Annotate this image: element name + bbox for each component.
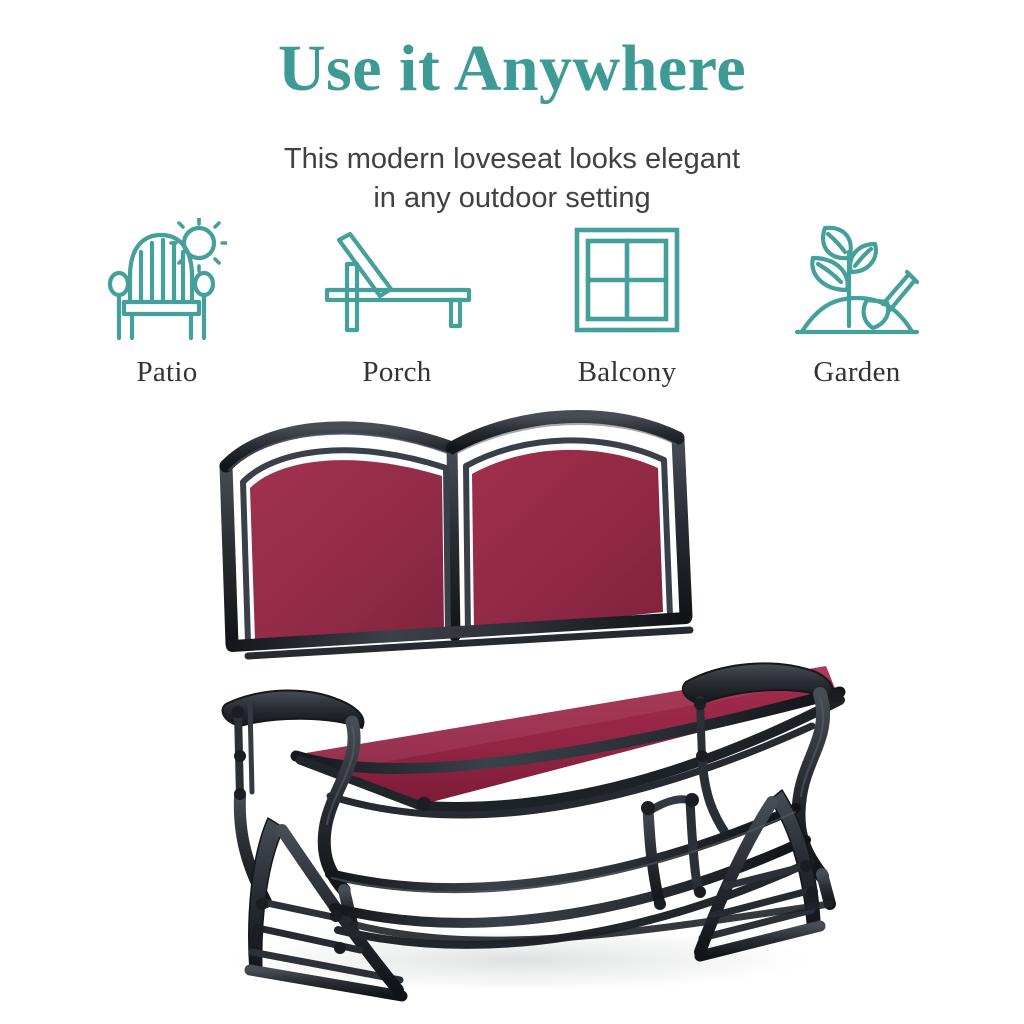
subtitle-line-1: This modern loveseat looks elegant — [0, 140, 1024, 179]
feature-item-patio: Patio — [52, 216, 282, 389]
patio-chair-sun-icon — [107, 216, 227, 344]
page-title: Use it Anywhere — [0, 34, 1024, 104]
feature-label-patio: Patio — [136, 356, 197, 389]
feature-label-balcony: Balcony — [578, 356, 677, 389]
feature-item-porch: Porch — [282, 216, 512, 389]
porch-lounge-chair-icon — [317, 216, 477, 344]
armrest-left — [222, 690, 363, 728]
feature-label-porch: Porch — [362, 356, 431, 389]
feature-list: Patio Porch — [52, 216, 972, 389]
feature-label-garden: Garden — [813, 356, 900, 389]
subtitle: This modern loveseat looks elegant in an… — [0, 140, 1024, 217]
subtitle-line-2: in any outdoor setting — [0, 179, 1024, 218]
feature-item-garden: Garden — [742, 216, 972, 389]
garden-plant-shovel-icon — [793, 216, 921, 344]
product-image-glider-loveseat — [0, 404, 1024, 1024]
balcony-window-icon — [573, 216, 681, 344]
product-feature-banner: Use it Anywhere This modern loveseat loo… — [0, 0, 1024, 1024]
feature-item-balcony: Balcony — [512, 216, 742, 389]
